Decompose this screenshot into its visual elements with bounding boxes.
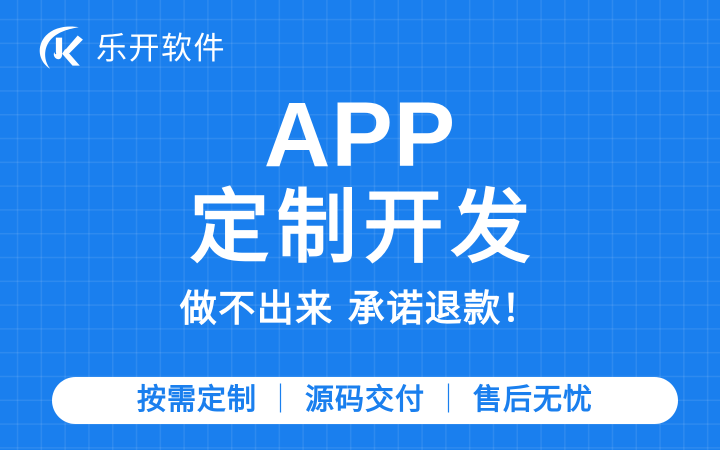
brand-logo[interactable]: 乐开软件 [33,22,226,74]
promo-banner: 乐开软件 APP 定制开发 做不出来承诺退款！ 按需定制 ｜ 源码交付 ｜ 售后… [0,0,720,450]
headline-line-guarantee: 做不出来承诺退款！ [0,290,720,327]
headline-block: APP 定制开发 做不出来承诺退款！ [0,98,720,327]
feature-pill-text: 按需定制 ｜ 源码交付 ｜ 售后无忧 [137,386,593,415]
headline-line-service: 定制开发 [0,188,720,268]
guarantee-text-part2: 承诺退款！ [348,288,541,329]
brand-name-label: 乐开软件 [96,33,226,64]
feature-separator-2: ｜ [425,386,473,415]
k-crescent-logo-icon [33,22,85,74]
feature-item-2: 源码交付 [305,386,425,415]
guarantee-text-part1: 做不出来 [180,288,334,329]
feature-pill[interactable]: 按需定制 ｜ 源码交付 ｜ 售后无忧 [52,377,678,424]
feature-separator-1: ｜ [257,386,305,415]
headline-line-app: APP [0,98,720,173]
feature-item-3: 售后无忧 [473,386,593,415]
feature-item-1: 按需定制 [137,386,257,415]
